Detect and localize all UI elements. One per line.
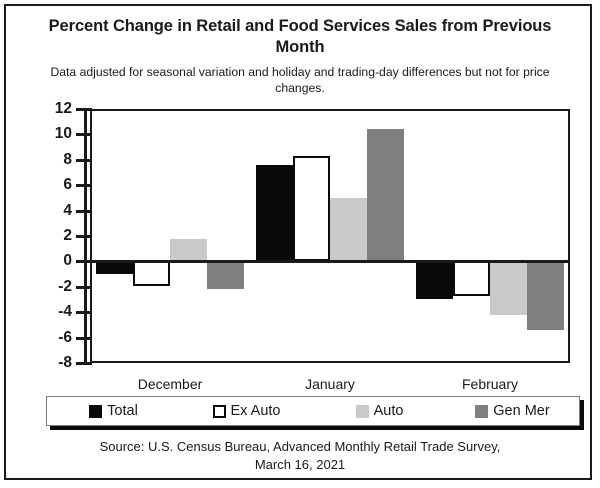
legend-swatch-icon	[356, 405, 369, 418]
y-axis-tick	[76, 311, 92, 314]
y-axis-tick	[76, 210, 92, 213]
bar-january-auto	[330, 198, 367, 262]
y-axis-tick-label: 10	[30, 126, 72, 141]
y-axis-tick-label: 0	[30, 253, 72, 268]
y-axis-tick	[76, 235, 92, 238]
bar-february-auto	[490, 261, 527, 314]
y-axis-tick-label: 8	[30, 152, 72, 167]
bar-february-gen-mer	[527, 261, 564, 330]
source-line-2: March 16, 2021	[36, 456, 564, 474]
legend: TotalEx AutoAutoGen Mer	[46, 396, 580, 426]
bar-january-total	[256, 165, 293, 262]
source-note: Source: U.S. Census Bureau, Advanced Mon…	[36, 438, 564, 474]
legend-label: Total	[107, 403, 138, 419]
y-axis-tick	[76, 286, 92, 289]
y-axis-tick-label: -8	[30, 355, 72, 370]
y-axis-tick-label: 2	[30, 228, 72, 243]
chart-frame: Percent Change in Retail and Food Servic…	[4, 4, 592, 480]
legend-swatch-icon	[213, 405, 226, 418]
legend-label: Ex Auto	[231, 403, 281, 419]
legend-swatch-icon	[89, 405, 102, 418]
legend-item-total[interactable]: Total	[47, 403, 180, 419]
y-axis-tick-label: 4	[30, 203, 72, 218]
x-axis-label-january: January	[250, 376, 410, 393]
legend-item-gen-mer[interactable]: Gen Mer	[446, 403, 579, 419]
bar-january-gen-mer	[367, 129, 404, 261]
y-axis-tick	[76, 337, 92, 340]
y-axis-tick-label: -2	[30, 279, 72, 294]
bar-february-ex-auto	[453, 261, 490, 295]
zero-baseline	[90, 260, 570, 263]
legend-label: Gen Mer	[493, 403, 549, 419]
legend-label: Auto	[374, 403, 404, 419]
y-axis-tick	[76, 362, 92, 365]
legend-item-ex-auto[interactable]: Ex Auto	[180, 403, 313, 419]
x-axis-label-february: February	[410, 376, 570, 393]
bar-february-total	[416, 261, 453, 299]
y-axis-tick	[76, 108, 92, 111]
bar-december-ex-auto	[133, 261, 170, 285]
y-axis-tick-label: 12	[30, 101, 72, 116]
x-axis-label-december: December	[90, 376, 250, 393]
y-axis-tick	[76, 159, 92, 162]
y-axis-tick	[76, 184, 92, 187]
bar-december-auto	[170, 239, 207, 262]
y-axis-tick-label: -4	[30, 304, 72, 319]
source-line-1: Source: U.S. Census Bureau, Advanced Mon…	[36, 438, 564, 456]
y-axis-tick	[76, 133, 92, 136]
y-axis-tick-label: 6	[30, 177, 72, 192]
legend-item-auto[interactable]: Auto	[313, 403, 446, 419]
bar-january-ex-auto	[293, 156, 330, 261]
bar-december-gen-mer	[207, 261, 244, 289]
legend-swatch-icon	[475, 405, 488, 418]
y-axis-tick-label: -6	[30, 330, 72, 345]
